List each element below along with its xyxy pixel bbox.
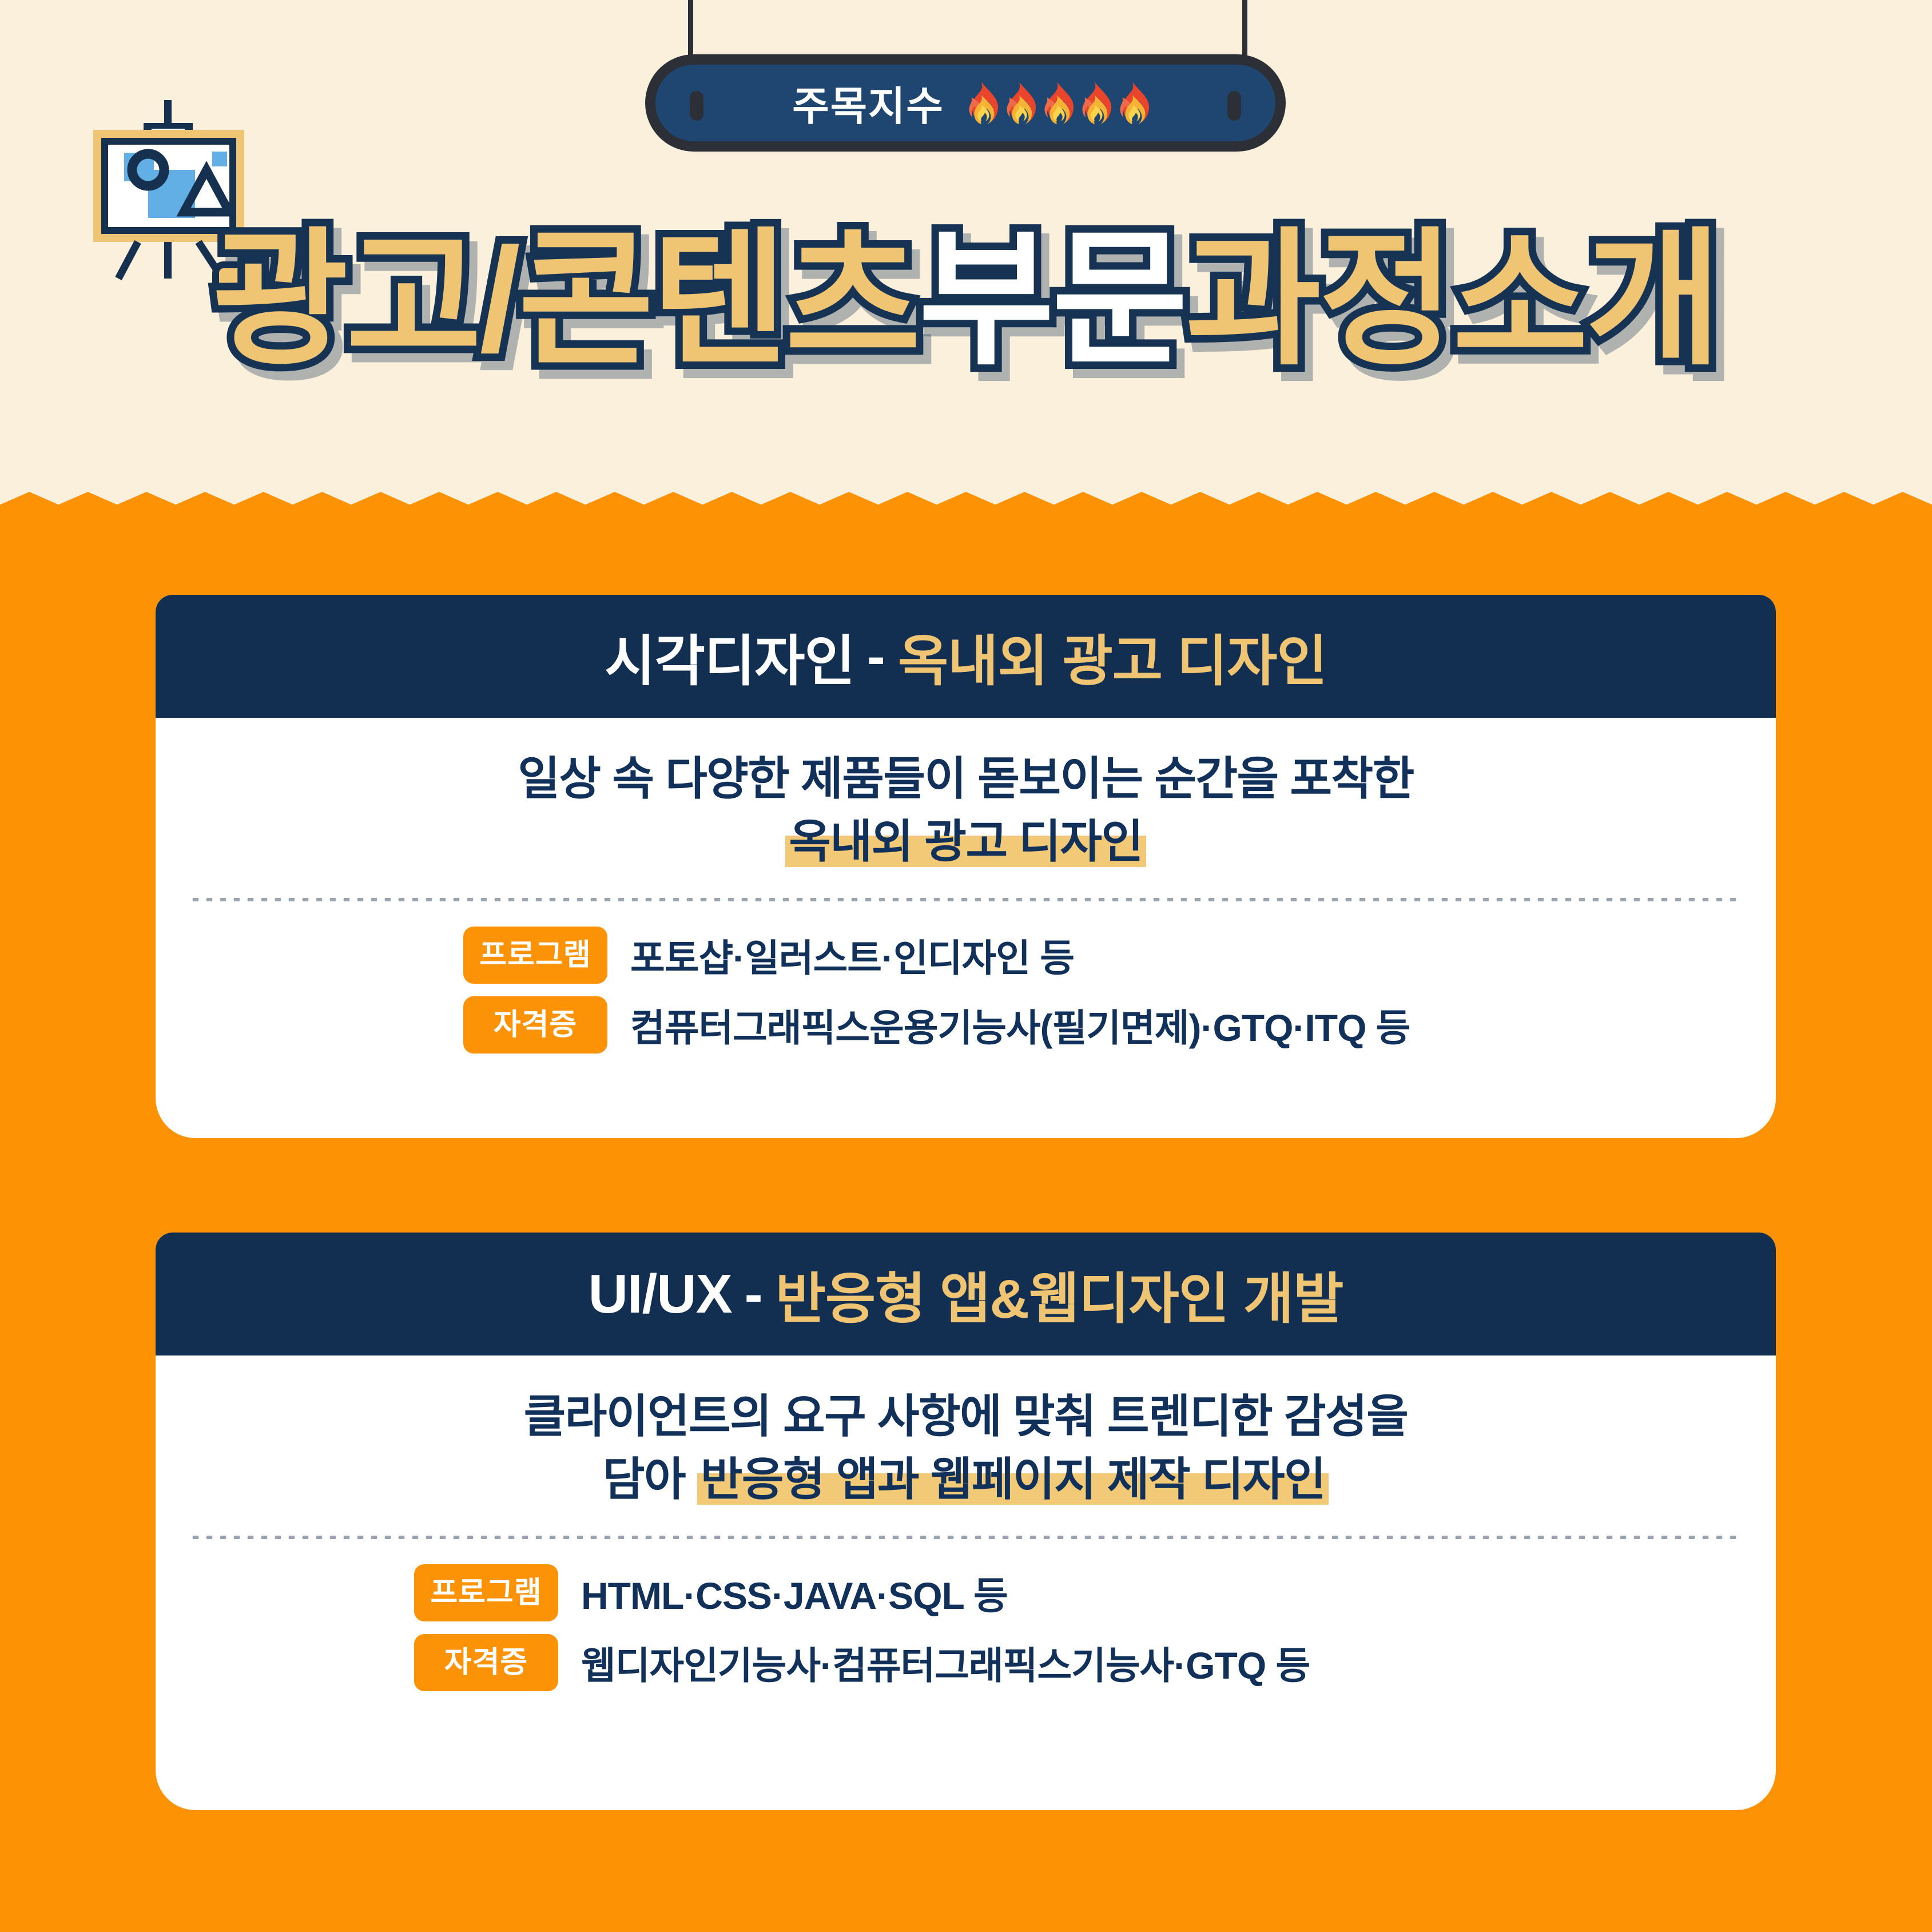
sign-label: 주목지수 (792, 74, 944, 132)
page-title-part-1: 광고/콘텐츠 (213, 226, 919, 373)
course-card-header: UI/UX - 반응형 앱&웹디자인 개발 (156, 1233, 1776, 1355)
course-detail-row: 자격증 웹디자인기능사·컴퓨터그래픽스기능사·GTQ 등 (414, 1634, 1776, 1691)
page-title: 광고/콘텐츠부문과정소개 (0, 226, 1932, 373)
poster-header: 주목지수 (0, 0, 1932, 503)
dotted-divider (189, 1536, 1743, 1539)
page-title-part-2: 부문 (919, 226, 1186, 373)
course-card-body: 일상 속 다양한 제품들이 돋보이는 순간을 포착한 옥내외 광고 디자인 프로… (156, 748, 1776, 1054)
dotted-divider (189, 898, 1743, 901)
sign-knob-left (690, 91, 703, 121)
course-detail-row: 프로그램 HTML·CSS·JAVA·SQL 등 (414, 1564, 1776, 1621)
detail-badge-program: 프로그램 (463, 927, 607, 984)
fire-icon (1001, 81, 1037, 125)
fire-rating (964, 81, 1150, 125)
course-detail-rows: 프로그램 포토샵·일러스트·인디자인 등 자격증 컴퓨터그래픽스운용기능사(필기… (463, 927, 1776, 1054)
course-description: 클라이언트의 요구 사항에 맞춰 트렌디한 감성을 담아 반응형 앱과 웹페이지… (156, 1385, 1776, 1512)
course-detail-row: 프로그램 포토샵·일러스트·인디자인 등 (463, 927, 1776, 984)
course-description-line-2: 담아 반응형 앱과 웹페이지 제작 디자인 (156, 1448, 1776, 1511)
detail-text-certificate: 웹디자인기능사·컴퓨터그래픽스기능사·GTQ 등 (581, 1635, 1310, 1690)
course-card[interactable]: UI/UX - 반응형 앱&웹디자인 개발 클라이언트의 요구 사항에 맞춰 트… (156, 1233, 1776, 1810)
course-title-dash: - (867, 625, 885, 688)
detail-badge-certificate: 자격증 (414, 1634, 558, 1691)
fire-icon (1115, 81, 1150, 125)
course-description-plain: 담아 (603, 1454, 697, 1505)
course-detail-rows: 프로그램 HTML·CSS·JAVA·SQL 등 자격증 웹디자인기능사·컴퓨터… (414, 1564, 1776, 1691)
course-detail-row: 자격증 컴퓨터그래픽스운용기능사(필기면제)·GTQ·ITQ 등 (463, 996, 1776, 1054)
course-card-header: 시각디자인 - 옥내외 광고 디자인 (156, 595, 1776, 718)
course-description-line-1: 일상 속 다양한 제품들이 돋보이는 순간을 포착한 (156, 748, 1776, 810)
course-description-highlight: 반응형 앱과 웹페이지 제작 디자인 (697, 1454, 1329, 1505)
course-description: 일상 속 다양한 제품들이 돋보이는 순간을 포착한 옥내외 광고 디자인 (156, 748, 1776, 874)
course-title-main: 시각디자인 (605, 617, 854, 696)
page-title-part-3: 과정소개 (1186, 226, 1719, 373)
detail-text-program: 포토샵·일러스트·인디자인 등 (630, 928, 1074, 983)
course-card[interactable]: 시각디자인 - 옥내외 광고 디자인 일상 속 다양한 제품들이 돋보이는 순간… (156, 595, 1776, 1138)
detail-badge-certificate: 자격증 (463, 996, 607, 1054)
course-title-sub: 옥내외 광고 디자인 (898, 617, 1327, 696)
course-list: 시각디자인 - 옥내외 광고 디자인 일상 속 다양한 제품들이 돋보이는 순간… (0, 526, 1932, 1932)
course-description-line-1: 클라이언트의 요구 사항에 맞춰 트렌디한 감성을 (156, 1385, 1776, 1448)
fire-icon (1039, 81, 1075, 125)
course-description-line-2: 옥내외 광고 디자인 (156, 810, 1776, 873)
sign-knob-right (1227, 91, 1241, 121)
fire-icon (964, 81, 999, 125)
course-title-main: UI/UX (589, 1263, 732, 1326)
course-description-highlight: 옥내외 광고 디자인 (785, 816, 1146, 867)
detail-text-program: HTML·CSS·JAVA·SQL 등 (581, 1565, 1008, 1620)
attention-index-sign: 주목지수 (645, 54, 1286, 152)
course-title-sub: 반응형 앱&웹디자인 개발 (776, 1254, 1343, 1334)
course-card-body: 클라이언트의 요구 사항에 맞춰 트렌디한 감성을 담아 반응형 앱과 웹페이지… (156, 1385, 1776, 1691)
course-title-dash: - (745, 1263, 763, 1326)
detail-text-certificate: 컴퓨터그래픽스운용기능사(필기면제)·GTQ·ITQ 등 (630, 997, 1410, 1052)
fire-icon (1077, 81, 1112, 125)
detail-badge-program: 프로그램 (414, 1564, 558, 1621)
